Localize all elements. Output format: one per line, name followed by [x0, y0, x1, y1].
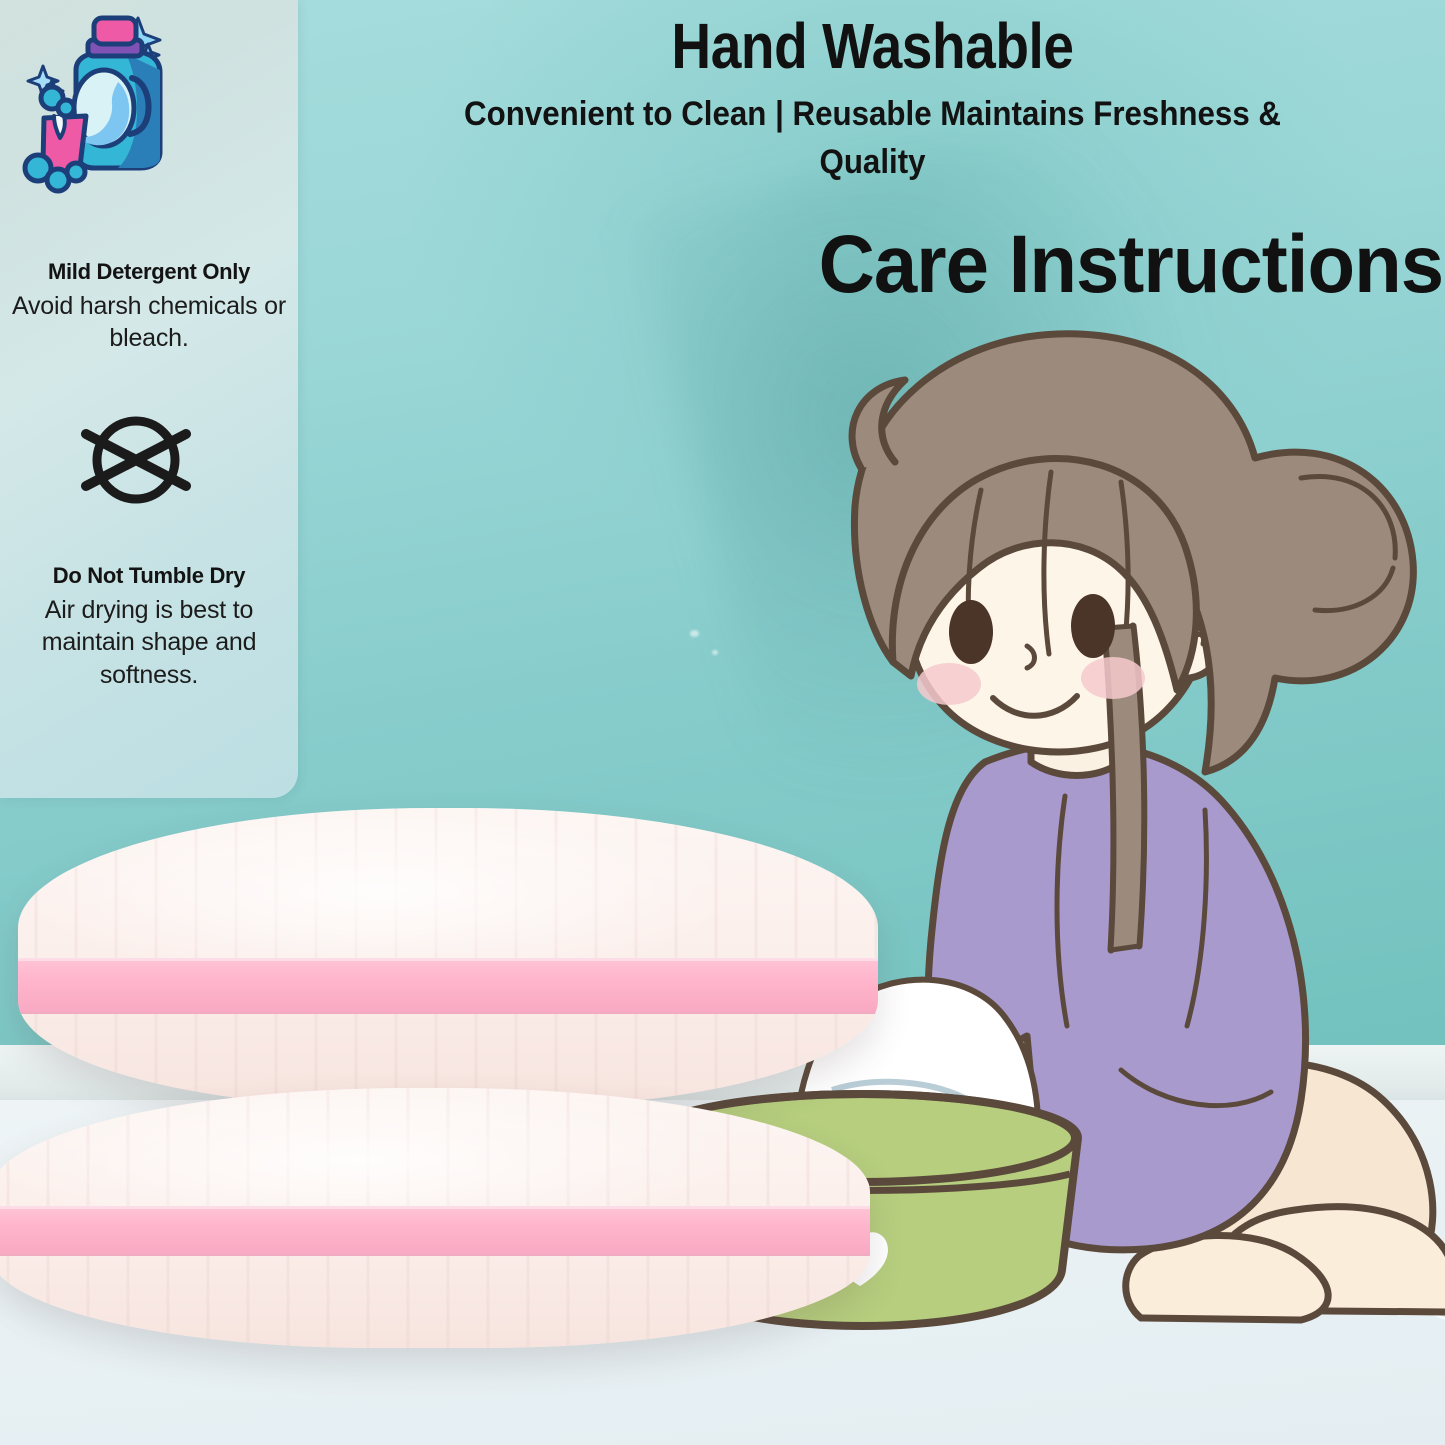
- no-tumble-dry-icon: [68, 412, 204, 508]
- care-block-detergent: Mild Detergent Only Avoid harsh chemical…: [0, 258, 298, 355]
- care-block-title: Mild Detergent Only: [8, 258, 290, 286]
- pillow-gusset: [0, 1206, 870, 1256]
- pillow-body: [18, 808, 878, 1108]
- care-sidebar-panel: Mild Detergent Only Avoid harsh chemical…: [0, 0, 298, 798]
- care-block-tumble-dry: Do Not Tumble Dry Air drying is best to …: [0, 562, 298, 691]
- pillow-gusset: [18, 958, 878, 1014]
- pillow-bottom: [0, 1088, 870, 1348]
- wall-speck: [712, 650, 718, 655]
- pillow-body: [0, 1088, 870, 1348]
- page-subtitle: Convenient to Clean | Reusable Maintains…: [346, 90, 1399, 187]
- wall-speck: [690, 630, 699, 637]
- care-block-text: Avoid harsh chemicals or bleach.: [8, 290, 290, 355]
- page-title: Hand Washable: [380, 0, 1365, 78]
- header: Hand Washable Convenient to Clean | Reus…: [300, 0, 1445, 187]
- care-block-title: Do Not Tumble Dry: [8, 562, 290, 590]
- detergent-bottle-icon: [14, 8, 234, 218]
- pillow-top: [18, 808, 878, 1108]
- care-block-text: Air drying is best to maintain shape and…: [8, 594, 290, 692]
